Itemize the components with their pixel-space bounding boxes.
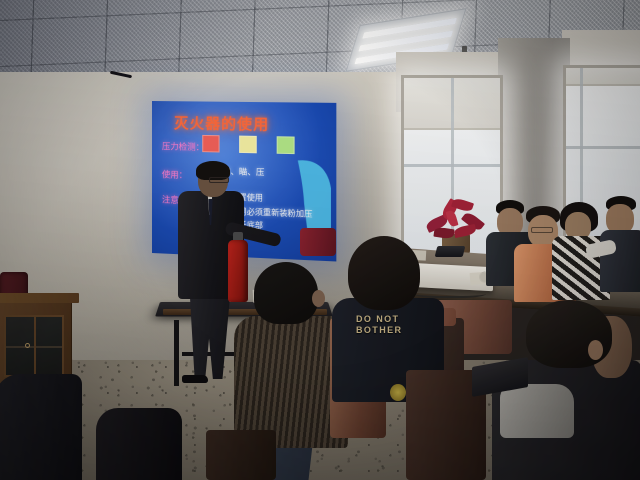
attendee-man-front-right xyxy=(492,300,640,480)
ear xyxy=(588,340,603,360)
attendee-foreground-left-edge xyxy=(0,374,82,480)
torso xyxy=(0,374,82,480)
slide-title: 灭火器的使用 xyxy=(174,112,323,136)
swatch-low-green xyxy=(277,136,295,154)
jacket-print-line-2: BOTHER xyxy=(356,325,436,336)
slide-label-pressure: 压力检测： xyxy=(162,140,204,153)
jacket-print-text: DO NOT BOTHER xyxy=(356,314,436,336)
pressure-gauge-swatches xyxy=(202,135,294,154)
swatch-normal-yellow xyxy=(239,136,257,154)
cabinet-door-divider xyxy=(34,315,36,377)
plant-leaf xyxy=(453,224,477,238)
eyeglasses xyxy=(209,177,229,183)
presenter-legs xyxy=(186,295,234,379)
attendee-man-suit-right xyxy=(600,196,640,292)
window-mullion xyxy=(566,146,640,149)
ear xyxy=(312,290,325,307)
chair-front-left-seat[interactable] xyxy=(206,430,276,480)
grey-sleeve xyxy=(500,384,574,438)
cabinet-top xyxy=(0,293,79,303)
eyeglasses xyxy=(531,227,553,233)
jacket-print-line-1: DO NOT xyxy=(356,314,436,325)
torso xyxy=(96,408,182,480)
meeting-room-photo: 灭火器的使用 压力检测： 使用： 提、拔、瞄、压 注意： 1、不能倒置使用 2、… xyxy=(0,0,640,480)
cabinet-knob[interactable] xyxy=(25,343,30,348)
chair-red-back[interactable] xyxy=(300,228,336,256)
presenter-shoe xyxy=(182,375,208,383)
jacket-badge xyxy=(390,384,406,401)
hair xyxy=(348,236,420,310)
plant-leaf xyxy=(445,210,458,228)
hair xyxy=(254,262,318,324)
suit-torso xyxy=(600,230,640,292)
attendee-foreground-left-shoulder xyxy=(96,408,182,480)
attendee-do-not-bother-jacket: DO NOT BOTHER xyxy=(332,236,444,386)
roller-blind[interactable] xyxy=(566,68,640,86)
swatch-overpressure-red xyxy=(202,135,219,153)
